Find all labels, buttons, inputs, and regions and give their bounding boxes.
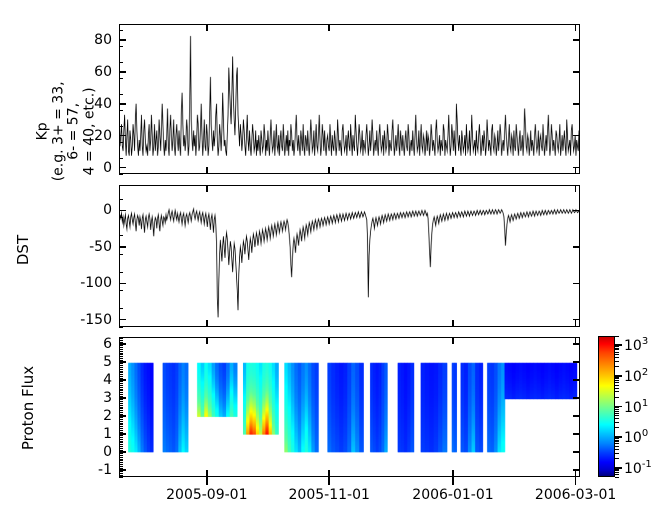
x-tickmark-top-flux-3 (575, 337, 577, 344)
kp-ytick-3: 60 (40, 65, 112, 79)
flux-minortick (119, 408, 123, 409)
flux-minortick (119, 372, 123, 373)
colorbar-minor-tickmark (615, 427, 619, 428)
flux-minortick (119, 417, 123, 418)
flux-minortick (119, 371, 123, 372)
dst-plot-canvas (120, 186, 579, 326)
flux-minortick (119, 387, 123, 388)
kp-minortick (119, 126, 123, 127)
colorbar-tick-base-0: 10 (624, 461, 642, 477)
figure-root: Kp (e.g. 3+ = 33, 6- = 57, 4 = 40, etc.)… (0, 0, 665, 523)
colorbar-tick-label-2: 101 (624, 398, 648, 416)
dst-tickmark-2 (119, 283, 126, 285)
flux-minortick (119, 424, 123, 425)
flux-ytick-6: 5 (40, 355, 112, 369)
flux-minortick (119, 383, 123, 384)
flux-minortick (119, 405, 123, 406)
flux-minortick (119, 344, 123, 345)
dst-minortick (119, 217, 123, 218)
colorbar-tick-label-3: 102 (624, 367, 648, 385)
kp-minortick (119, 158, 123, 159)
flux-minortick (119, 419, 123, 420)
flux-ytick-0: -1 (40, 463, 112, 477)
colorbar-minor-tickmark (615, 385, 619, 386)
flux-minortick (119, 390, 123, 391)
flux-ytick-3: 2 (40, 409, 112, 423)
colorbar-tick-exponent-3: 2 (642, 367, 648, 378)
flux-minortick (119, 468, 123, 469)
colorbar-tick-exponent-4: 3 (642, 336, 648, 347)
colorbar-minor-tickmark (615, 346, 619, 347)
colorbar-tick-exponent-2: 1 (642, 398, 648, 409)
colorbar-minor-tickmark (615, 349, 619, 350)
x-tickmark-kp-1 (328, 167, 330, 174)
flux-minortick (119, 412, 123, 413)
colorbar-minor-tickmark (615, 413, 619, 414)
kp-minortick (119, 30, 123, 31)
flux-minortick (119, 389, 123, 390)
x-tickmark-dst-3 (575, 320, 577, 327)
x-tickmark-top-flux-0 (206, 337, 208, 344)
colorbar-minor-tickmark (615, 377, 619, 378)
colorbar-minor-tickmark (615, 422, 619, 423)
dst-minortick (119, 199, 123, 200)
x-tickmark-top-flux-1 (328, 337, 330, 344)
colorbar-minor-tickmark (615, 380, 619, 381)
flux-ytick-1: 0 (40, 445, 112, 459)
kp-tickmark-0 (119, 167, 126, 169)
flux-minortick (119, 415, 123, 416)
x-tickmark-top-kp-1 (328, 24, 330, 31)
colorbar-minor-tickmark (615, 469, 619, 470)
colorbar-minor-tickmark (615, 458, 619, 459)
dst-tickmark-r-1 (573, 246, 580, 248)
flux-minortick (119, 477, 123, 478)
colorbar-minor-tickmark (615, 382, 619, 383)
dst-tickmark-3 (119, 319, 126, 321)
colorbar-minor-tickmark (615, 388, 619, 389)
flux-ytick-4: 3 (40, 391, 112, 405)
colorbar-minor-tickmark (615, 397, 619, 398)
flux-minortick (119, 356, 123, 357)
proton-flux-heatmap-canvas (120, 338, 579, 476)
flux-minortick (119, 451, 123, 452)
flux-minortick (119, 363, 123, 364)
flux-minortick (119, 399, 123, 400)
dst-minortick (119, 235, 123, 236)
dst-minortick (119, 327, 123, 328)
flux-tickmark-r-5 (573, 379, 580, 381)
flux-minortick (119, 378, 123, 379)
kp-minortick (119, 174, 123, 175)
kp-tickmark-r-4 (573, 39, 580, 41)
flux-minortick (119, 469, 123, 470)
kp-ytick-4: 80 (40, 33, 112, 47)
flux-minortick (119, 369, 123, 370)
kp-panel (119, 24, 580, 174)
colorbar-minor-tickmark (615, 366, 619, 367)
dst-minortick (119, 272, 123, 273)
x-tickmark-outer-3 (575, 477, 577, 485)
colorbar-minor-tickmark (615, 477, 619, 478)
colorbar-minor-tickmark (615, 378, 619, 379)
kp-minortick (119, 110, 123, 111)
colorbar-tick-base-2: 10 (624, 399, 642, 415)
flux-minortick (119, 380, 123, 381)
flux-minortick (119, 349, 123, 350)
flux-minortick (119, 394, 123, 395)
colorbar-minor-tickmark (615, 361, 619, 362)
colorbar-tick-label-4: 103 (624, 336, 648, 354)
colorbar-minor-tickmark (615, 443, 619, 444)
proton-flux-axis-label: Proton Flux (19, 348, 37, 468)
proton-flux-panel (119, 337, 580, 477)
x-tickmark-top-flux-2 (452, 337, 454, 344)
flux-ytick-2: 1 (40, 427, 112, 441)
colorbar-minor-tickmark (615, 348, 619, 349)
dst-panel (119, 185, 580, 327)
dst-ytick-3: -150 (40, 313, 112, 327)
x-tickmark-top-kp-0 (206, 24, 208, 31)
flux-minortick (119, 428, 123, 429)
flux-ytick-5: 4 (40, 373, 112, 387)
flux-minortick (119, 367, 123, 368)
flux-minortick (119, 340, 123, 341)
dst-minortick (119, 308, 123, 309)
dst-axis-label: DST (14, 220, 32, 280)
kp-tickmark-4 (119, 39, 126, 41)
kp-minortick (119, 142, 123, 143)
colorbar-minor-tickmark (615, 352, 619, 353)
kp-tickmark-r-2 (573, 103, 580, 105)
kp-tickmark-2 (119, 103, 126, 105)
x-tick-label-3: 2006-03-01 (535, 487, 616, 503)
x-tickmark-outer-1 (328, 477, 330, 485)
colorbar-minor-tickmark (615, 453, 619, 454)
kp-minortick (119, 94, 123, 95)
flux-minortick (119, 457, 123, 458)
flux-minortick (119, 414, 123, 415)
flux-minortick (119, 473, 123, 474)
flux-minortick (119, 442, 123, 443)
colorbar-tick-base-4: 10 (624, 338, 642, 354)
colorbar-minor-tickmark (615, 407, 619, 408)
colorbar-minor-tickmark (615, 357, 619, 358)
kp-tickmark-r-1 (573, 135, 580, 137)
dst-tickmark-1 (119, 246, 126, 248)
flux-minortick (119, 421, 123, 422)
colorbar-minor-tickmark (615, 470, 619, 471)
x-tickmark-top-dst-1 (328, 185, 330, 192)
flux-minortick (119, 471, 123, 472)
colorbar-minor-tickmark (615, 415, 619, 416)
kp-ytick-1: 20 (40, 129, 112, 143)
x-tickmark-kp-0 (206, 167, 208, 174)
flux-minortick (119, 430, 123, 431)
x-tickmark-dst-2 (452, 320, 454, 327)
dst-ytick-1: -50 (40, 240, 112, 254)
flux-minortick (119, 342, 123, 343)
colorbar-minor-tickmark (615, 474, 619, 475)
x-tickmark-flux-0 (206, 470, 208, 477)
flux-minortick (119, 448, 123, 449)
flux-minortick (119, 464, 123, 465)
kp-plot-canvas (120, 25, 579, 173)
flux-minortick (119, 439, 123, 440)
colorbar-tick-base-1: 10 (624, 430, 642, 446)
colorbar-minor-tickmark (615, 336, 619, 337)
dst-minortick (119, 254, 123, 255)
flux-minortick (119, 453, 123, 454)
flux-minortick (119, 433, 123, 434)
dst-tickmark-r-2 (573, 283, 580, 285)
flux-minortick (119, 459, 123, 460)
x-tickmark-kp-2 (452, 167, 454, 174)
flux-minortick (119, 403, 123, 404)
flux-minortick (119, 401, 123, 402)
colorbar-tick-exponent-0: -1 (642, 459, 652, 470)
colorbar-minor-tickmark (615, 449, 619, 450)
flux-tickmark-r-1 (573, 451, 580, 453)
colorbar-minor-tickmark (615, 391, 619, 392)
flux-minortick (119, 376, 123, 377)
flux-minortick (119, 345, 123, 346)
flux-minortick (119, 353, 123, 354)
dst-ytick-2: -100 (40, 276, 112, 290)
x-tick-label-2: 2006-01-01 (412, 487, 493, 503)
colorbar-tick-base-3: 10 (624, 369, 642, 385)
x-tickmark-flux-3 (575, 470, 577, 477)
colorbar-tick-label-0: 10-1 (624, 459, 652, 477)
colorbar (598, 336, 615, 477)
flux-tickmark-r-6 (573, 361, 580, 363)
kp-tickmark-1 (119, 135, 126, 137)
x-tickmark-outer-0 (206, 477, 208, 485)
flux-minortick (119, 462, 123, 463)
kp-ytick-2: 40 (40, 97, 112, 111)
flux-minortick (119, 423, 123, 424)
flux-minortick (119, 338, 123, 339)
colorbar-tick-label-1: 100 (624, 428, 648, 446)
kp-ytick-0: 0 (40, 161, 112, 175)
colorbar-minor-tickmark (615, 438, 619, 439)
colorbar-minor-tickmark (615, 441, 619, 442)
x-tickmark-kp-3 (575, 167, 577, 174)
flux-minortick (119, 460, 123, 461)
colorbar-minor-tickmark (615, 418, 619, 419)
flux-minortick (119, 475, 123, 476)
x-tick-label-1: 2005-11-01 (289, 487, 370, 503)
x-tickmark-top-kp-3 (575, 24, 577, 31)
x-tick-label-0: 2005-09-01 (166, 487, 247, 503)
kp-minortick (119, 62, 123, 63)
colorbar-minor-tickmark (615, 409, 619, 410)
colorbar-minor-tickmark (615, 440, 619, 441)
dst-tickmark-r-0 (573, 210, 580, 212)
x-tickmark-top-dst-3 (575, 185, 577, 192)
x-tickmark-top-kp-2 (452, 24, 454, 31)
flux-minortick (119, 396, 123, 397)
flux-minortick (119, 407, 123, 408)
flux-minortick (119, 347, 123, 348)
dst-minortick (119, 290, 123, 291)
colorbar-minor-tickmark (615, 446, 619, 447)
x-tickmark-flux-1 (328, 470, 330, 477)
x-tickmark-top-dst-2 (452, 185, 454, 192)
flux-minortick (119, 337, 123, 338)
x-tickmark-top-dst-0 (206, 185, 208, 192)
x-tickmark-dst-1 (328, 320, 330, 327)
flux-minortick (119, 362, 123, 363)
flux-tickmark-r-2 (573, 433, 580, 435)
dst-tickmark-0 (119, 210, 126, 212)
kp-tickmark-r-3 (573, 71, 580, 73)
flux-minortick (119, 466, 123, 467)
flux-minortick (119, 374, 123, 375)
flux-minortick (119, 450, 123, 451)
flux-minortick (119, 444, 123, 445)
colorbar-tick-exponent-1: 0 (642, 428, 648, 439)
flux-minortick (119, 354, 123, 355)
colorbar-minor-tickmark (615, 411, 619, 412)
x-tickmark-outer-2 (452, 477, 454, 485)
flux-minortick (119, 446, 123, 447)
flux-minortick (119, 426, 123, 427)
kp-minortick (119, 46, 123, 47)
flux-tickmark-r-3 (573, 415, 580, 417)
x-tickmark-dst-0 (206, 320, 208, 327)
kp-minortick (119, 78, 123, 79)
flux-minortick (119, 360, 123, 361)
flux-minortick (119, 455, 123, 456)
flux-minortick (119, 410, 123, 411)
flux-minortick (119, 432, 123, 433)
flux-minortick (119, 385, 123, 386)
flux-minortick (119, 365, 123, 366)
kp-tickmark-3 (119, 71, 126, 73)
flux-minortick (119, 351, 123, 352)
flux-minortick (119, 392, 123, 393)
flux-minortick (119, 435, 123, 436)
flux-minortick (119, 441, 123, 442)
flux-tickmark-r-4 (573, 397, 580, 399)
flux-minortick (119, 358, 123, 359)
x-tickmark-flux-2 (452, 470, 454, 477)
colorbar-minor-tickmark (615, 472, 619, 473)
flux-minortick (119, 437, 123, 438)
flux-ytick-7: 6 (40, 337, 112, 351)
colorbar-minor-tickmark (615, 354, 619, 355)
flux-minortick (119, 381, 123, 382)
dst-ytick-0: 0 (40, 203, 112, 217)
flux-minortick (119, 398, 123, 399)
